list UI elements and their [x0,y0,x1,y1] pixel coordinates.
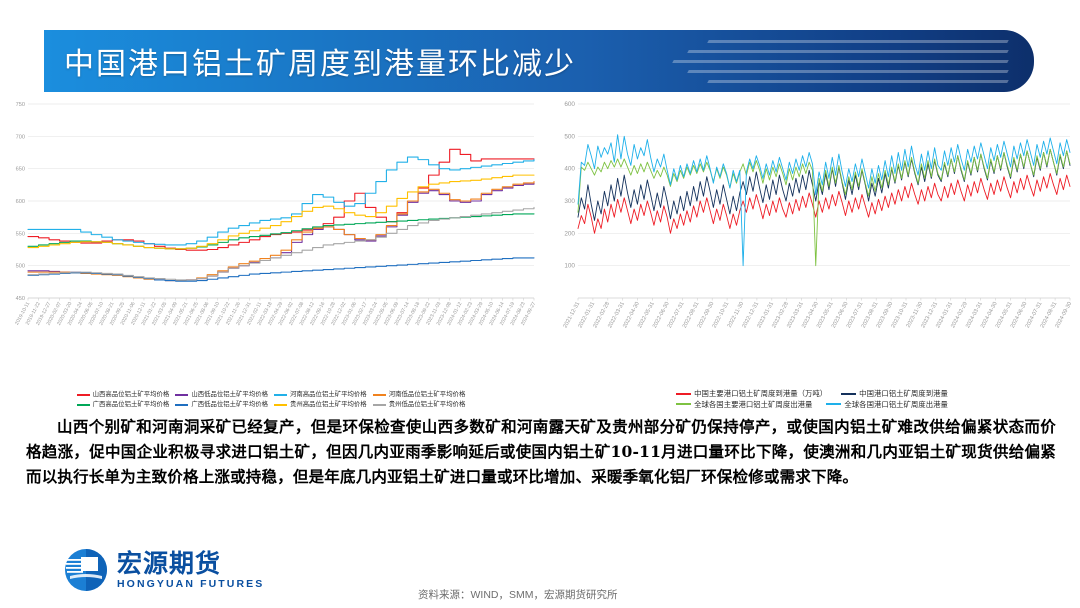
bauxite-port-arrival-plot: 1002003004005006002021-12-312022-01-3120… [546,98,1078,336]
svg-text:600: 600 [564,101,575,108]
svg-text:450: 450 [16,296,25,302]
legend-item[interactable]: 山西高品位铝土矿平均价格 [77,392,170,398]
legend-swatch-icon [274,404,287,406]
legend-item[interactable]: 河南低品位铝土矿平均价格 [373,392,466,398]
legend-item[interactable]: 贵州低品位铝土矿平均价格 [373,402,466,408]
svg-text:650: 650 [16,167,25,173]
legend-swatch-icon [77,394,90,396]
legend-item[interactable]: 全球各国主要港口铝土矿周度出港量 [676,401,812,408]
logo-wordmark: 宏源期货 HONGYUAN FUTURES [117,551,264,590]
legend-item-label: 河南高品位铝土矿平均价格 [290,392,367,398]
legend-item-label: 山西低品位铝土矿平均价格 [191,392,268,398]
legend-item-label: 广西低品位铝土矿平均价格 [191,402,268,408]
svg-text:750: 750 [16,102,25,108]
svg-text:300: 300 [564,198,575,205]
legend-row-2: 全球各国主要港口铝土矿周度出港量 全球各国港口铝土矿周度出港量 [676,401,948,408]
logo-cn-name: 宏源期货 [117,551,264,576]
slide-root: 中国港口铝土矿周度到港量环比减少 45050055060065070075020… [0,0,1080,608]
bauxite-price-chart-panel: 4505005506006507007502019-10-112019-11-2… [2,98,540,410]
legend-row-2: 广西高品位铝土矿平均价格 广西低品位铝土矿平均价格 贵州高品位铝土矿平均价格 贵… [77,402,466,408]
svg-text:100: 100 [564,263,575,270]
legend-swatch-icon [175,404,188,406]
legend-item-label: 贵州低品位铝土矿平均价格 [389,402,466,408]
company-logo: 宏源期货 HONGYUAN FUTURES [64,548,264,592]
page-title: 中国港口铝土矿周度到港量环比减少 [64,39,576,83]
svg-text:500: 500 [564,133,575,140]
legend-item[interactable]: 贵州高品位铝土矿平均价格 [274,402,367,408]
slide-footer: 宏源期货 HONGYUAN FUTURES 资料来源：WIND，SMM，宏源期货… [0,546,1080,608]
legend-item[interactable]: 山西低品位铝土矿平均价格 [175,392,268,398]
legend-row-1: 山西高品位铝土矿平均价格 山西低品位铝土矿平均价格 河南高品位铝土矿平均价格 河… [77,392,466,398]
bauxite-price-legend: 山西高品位铝土矿平均价格 山西低品位铝土矿平均价格 河南高品位铝土矿平均价格 河… [2,390,540,408]
legend-item[interactable]: 全球各国港口铝土矿周度出港量 [826,401,947,408]
legend-row-1: 中国主要港口铝土矿周度到港量（万吨） 中国港口铝土矿周度到港量 [676,390,948,397]
legend-swatch-icon [676,403,691,405]
bauxite-port-arrival-legend: 中国主要港口铝土矿周度到港量（万吨） 中国港口铝土矿周度到港量 全球各国主要港口… [546,388,1078,408]
logo-en-name: HONGYUAN FUTURES [117,579,264,590]
legend-item-label: 贵州高品位铝土矿平均价格 [290,402,367,408]
legend-item[interactable]: 广西高品位铝土矿平均价格 [77,402,170,408]
legend-item[interactable]: 河南高品位铝土矿平均价格 [274,392,367,398]
legend-swatch-icon [676,393,691,395]
legend-swatch-icon [826,403,841,405]
source-note: 资料来源：WIND，SMM，宏源期货研究所 [418,587,618,602]
body-paragraph: 山西个别矿和河南洞采矿已经复产，但是环保检查使山西多数矿和河南露天矿及贵州部分矿… [26,414,1056,489]
banner-stripe-decoration [614,30,1034,92]
legend-swatch-icon [373,394,386,396]
legend-swatch-icon [841,393,856,395]
legend-swatch-icon [274,394,287,396]
hongyuan-logo-icon [64,548,108,592]
legend-item-label: 中国港口铝土矿周度到港量 [859,390,948,397]
legend-item[interactable]: 中国港口铝土矿周度到港量 [841,390,948,397]
legend-item-label: 中国主要港口铝土矿周度到港量（万吨） [694,390,827,397]
svg-text:200: 200 [564,230,575,237]
legend-item-label: 山西高品位铝土矿平均价格 [93,392,170,398]
legend-item[interactable]: 广西低品位铝土矿平均价格 [175,402,268,408]
legend-swatch-icon [373,404,386,406]
svg-text:400: 400 [564,166,575,173]
legend-item-label: 广西高品位铝土矿平均价格 [93,402,170,408]
bauxite-port-arrival-chart-panel: 1002003004005006002021-12-312022-01-3120… [546,98,1078,410]
svg-text:550: 550 [16,231,25,237]
legend-item-label: 全球各国港口铝土矿周度出港量 [844,401,947,408]
legend-swatch-icon [77,404,90,406]
svg-text:500: 500 [16,264,25,270]
legend-item-label: 全球各国主要港口铝土矿周度出港量 [694,401,812,408]
legend-item-label: 河南低品位铝土矿平均价格 [389,392,466,398]
svg-text:700: 700 [16,134,25,140]
bauxite-price-plot: 4505005506006507007502019-10-112019-11-2… [2,98,540,336]
legend-swatch-icon [175,394,188,396]
svg-text:600: 600 [16,199,25,205]
charts-container: 4505005506006507007502019-10-112019-11-2… [0,98,1080,410]
slide-title-banner: 中国港口铝土矿周度到港量环比减少 [44,30,1034,92]
legend-item[interactable]: 中国主要港口铝土矿周度到港量（万吨） [676,390,827,397]
